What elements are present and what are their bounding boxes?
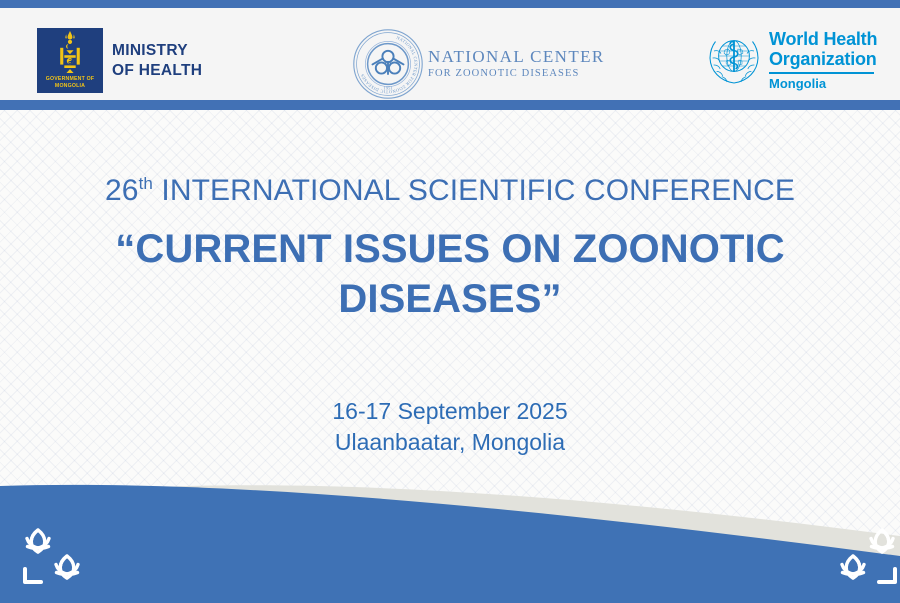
conference-theme: “CURRENT ISSUES ON ZOONOTIC DISEASES” (0, 224, 900, 324)
who-emblem-icon (705, 29, 763, 87)
top-accent-bar (0, 0, 900, 8)
conference-title-slide: GOVERNMENT OF MONGOLIA MINISTRY OF HEALT… (0, 0, 900, 603)
who-country-label: Mongolia (769, 76, 877, 91)
ministry-logo-text: MINISTRY OF HEALTH (112, 41, 202, 81)
header-divider-bar (0, 100, 900, 110)
emblem-caption: GOVERNMENT OF MONGOLIA (37, 76, 103, 90)
nczd-logo-text: NATIONAL CENTER FOR ZOONOTIC DISEASES (428, 47, 605, 81)
seal-year: 1951 (383, 86, 393, 91)
who-underline (769, 72, 874, 74)
event-dates: 16-17 September 2025 (0, 396, 900, 427)
soyombo-emblem-icon: GOVERNMENT OF MONGOLIA (37, 28, 103, 93)
nczd-logo: NATIONAL CENTER FOR ZOONOTIC DISEASES 19… (352, 28, 605, 100)
nczd-title-line2: FOR ZOONOTIC DISEASES (428, 67, 605, 81)
who-logo: World Health Organization Mongolia (705, 29, 877, 91)
event-location: Ulaanbaatar, Mongolia (0, 427, 900, 458)
who-logo-text: World Health Organization Mongolia (769, 29, 877, 91)
ministry-title-line2: OF HEALTH (112, 61, 202, 81)
who-name-line1: World Health (769, 30, 877, 50)
ministry-of-health-logo: GOVERNMENT OF MONGOLIA MINISTRY OF HEALT… (37, 28, 202, 93)
biohazard-seal-icon: NATIONAL CENTER FOR ZOONOTIC DISEASES 19… (352, 28, 424, 100)
soyombo-icon (53, 30, 87, 74)
nczd-title-line1: NATIONAL CENTER (428, 47, 605, 67)
mongolian-knot-ornament-left (12, 519, 108, 593)
conference-ordinal: th (139, 174, 153, 193)
event-meta: 16-17 September 2025 Ulaanbaatar, Mongol… (0, 396, 900, 458)
logo-row: GOVERNMENT OF MONGOLIA MINISTRY OF HEALT… (0, 8, 900, 100)
who-name-line2: Organization (769, 50, 877, 70)
conference-heading-text: INTERNATIONAL SCIENTIFIC CONFERENCE (153, 174, 795, 207)
theme-line-1: “CURRENT ISSUES ON ZOONOTIC (0, 224, 900, 274)
title-text-block: 26th INTERNATIONAL SCIENTIFIC CONFERENCE… (0, 110, 900, 458)
conference-number: 26 (105, 174, 139, 207)
emblem-caption-line1: GOVERNMENT OF (46, 76, 94, 82)
theme-line-2: DISEASES” (0, 274, 900, 324)
mongolian-knot-ornament-right (812, 519, 900, 593)
emblem-caption-line2: MONGOLIA (55, 83, 85, 89)
ministry-title-line1: MINISTRY (112, 41, 202, 61)
conference-heading: 26th INTERNATIONAL SCIENTIFIC CONFERENCE (0, 172, 900, 210)
